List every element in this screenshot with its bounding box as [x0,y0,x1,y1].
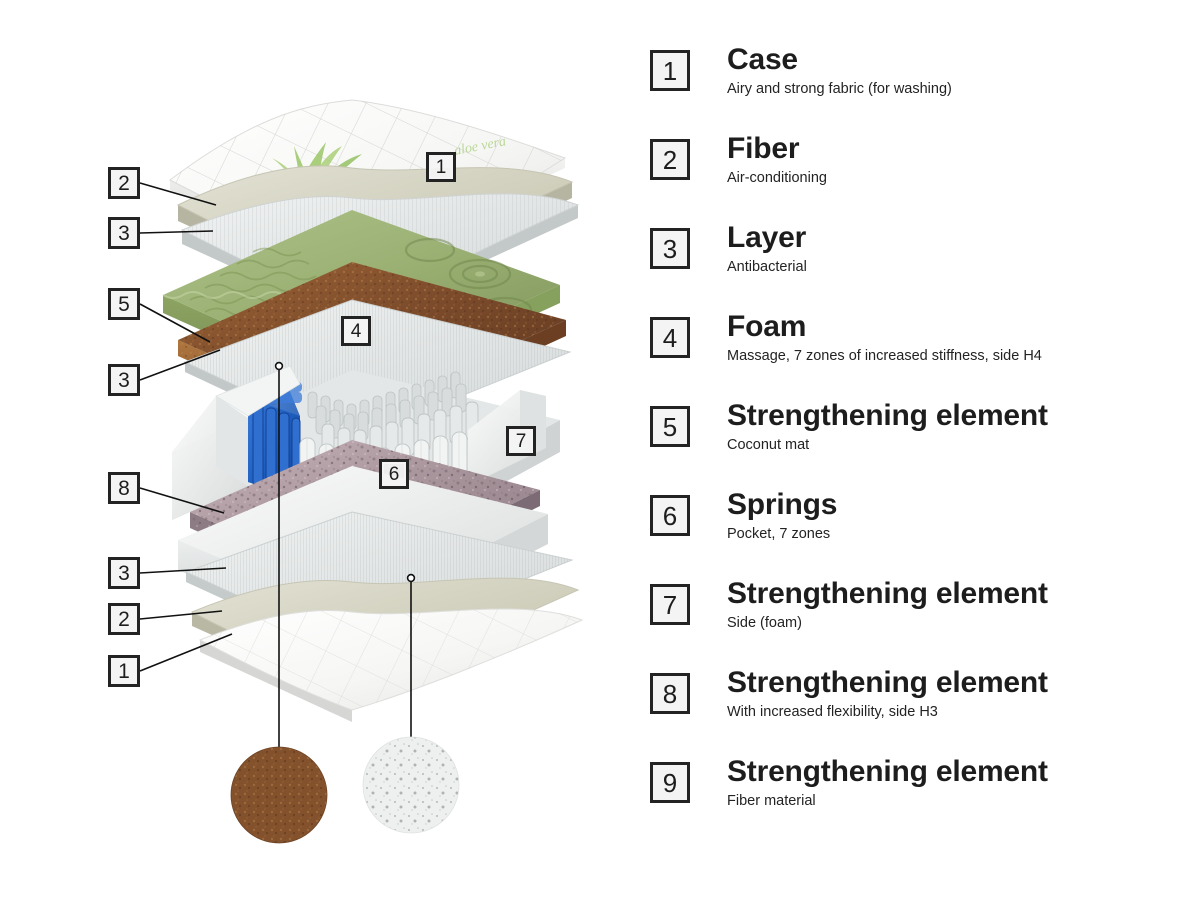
legend-item-8: 8 Strengthening element With increased f… [650,667,1190,741]
foam-speckle-detail-circle [363,737,459,833]
legend-title-6: Springs [727,489,837,521]
legend-subtitle-1: Airy and strong fabric (for washing) [727,81,952,98]
legend-item-2: 2 Fiber Air-conditioning [650,133,1190,207]
legend-title-5: Strengthening element [727,400,1048,432]
legend-text-4: Foam Massage, 7 zones of increased stiff… [727,311,1042,364]
callout-badge-left-1: 1 [108,655,140,687]
legend-subtitle-3: Antibacterial [727,259,807,276]
callout-badge-left-8: 8 [108,472,140,504]
legend-item-4: 4 Foam Massage, 7 zones of increased sti… [650,311,1190,385]
legend-subtitle-8: With increased flexibility, side H3 [727,704,1048,721]
callout-badge-left-3b: 3 [108,364,140,396]
legend-text-2: Fiber Air-conditioning [727,133,827,186]
callout-badge-inner-1: 1 [426,152,456,182]
legend-badge-8: 8 [650,673,690,714]
mattress-layers-illustration: aloe vera aloe vera [0,0,640,900]
legend-badge-6: 6 [650,495,690,536]
legend-text-3: Layer Antibacterial [727,222,807,275]
mattress-exploded-diagram: aloe vera aloe vera [0,0,640,900]
legend-title-9: Strengthening element [727,756,1048,788]
legend-title-1: Case [727,44,952,76]
legend-badge-9: 9 [650,762,690,803]
callout-badge-left-2b: 2 [108,603,140,635]
legend-item-9: 9 Strengthening element Fiber material [650,756,1190,830]
callout-badge-left-5: 5 [108,288,140,320]
legend-badge-7: 7 [650,584,690,625]
legend-badge-1: 1 [650,50,690,91]
layer-bottom-cover [200,609,582,722]
legend-text-5: Strengthening element Coconut mat [727,400,1048,453]
legend-item-5: 5 Strengthening element Coconut mat [650,400,1190,474]
legend-subtitle-7: Side (foam) [727,615,1048,632]
legend-text-7: Strengthening element Side (foam) [727,578,1048,631]
legend-title-2: Fiber [727,133,827,165]
legend-subtitle-4: Massage, 7 zones of increased stiffness,… [727,348,1042,365]
legend-text-8: Strengthening element With increased fle… [727,667,1048,720]
legend-text-6: Springs Pocket, 7 zones [727,489,837,542]
legend-badge-2: 2 [650,139,690,180]
legend-text-9: Strengthening element Fiber material [727,756,1048,809]
callout-badge-left-2: 2 [108,167,140,199]
callout-badge-left-3a: 3 [108,217,140,249]
legend-title-4: Foam [727,311,1042,343]
legend-item-1: 1 Case Airy and strong fabric (for washi… [650,44,1190,118]
legend-title-7: Strengthening element [727,578,1048,610]
legend-title-3: Layer [727,222,807,254]
callout-badge-left-3c: 3 [108,557,140,589]
legend-item-7: 7 Strengthening element Side (foam) [650,578,1190,652]
legend-subtitle-6: Pocket, 7 zones [727,526,837,543]
legend-badge-3: 3 [650,228,690,269]
legend-item-3: 3 Layer Antibacterial [650,222,1190,296]
legend-text-1: Case Airy and strong fabric (for washing… [727,44,952,97]
legend-subtitle-9: Fiber material [727,793,1048,810]
legend-subtitle-5: Coconut mat [727,437,1048,454]
legend-title-8: Strengthening element [727,667,1048,699]
coconut-coir-detail-circle [231,747,327,843]
legend-badge-4: 4 [650,317,690,358]
legend-badge-5: 5 [650,406,690,447]
legend-subtitle-2: Air-conditioning [727,170,827,187]
callout-badge-inner-7: 7 [506,426,536,456]
callout-badge-inner-6: 6 [379,459,409,489]
callout-badge-inner-4: 4 [341,316,371,346]
legend-list: 1 Case Airy and strong fabric (for washi… [650,44,1190,845]
legend-item-6: 6 Springs Pocket, 7 zones [650,489,1190,563]
